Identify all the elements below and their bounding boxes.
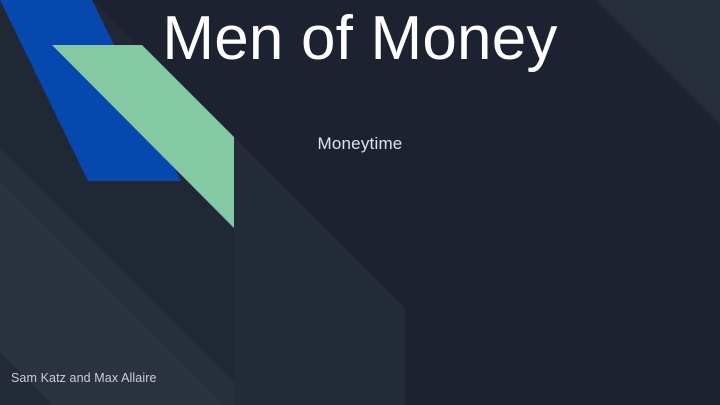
slide-footer-authors: Sam Katz and Max Allaire: [11, 371, 157, 385]
slide-subtitle: Moneytime: [0, 134, 720, 154]
slide-canvas: Men of Money Moneytime Sam Katz and Max …: [0, 0, 720, 405]
slide-title: Men of Money: [0, 8, 720, 70]
